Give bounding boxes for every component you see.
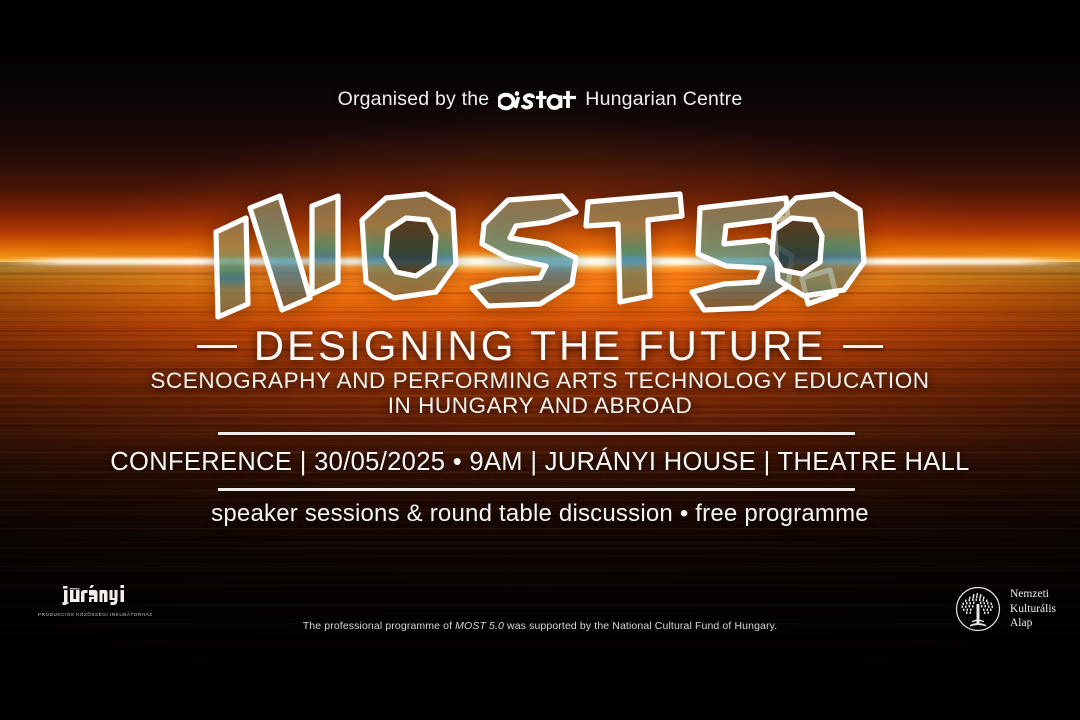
nka-text-line-3: Alap bbox=[1010, 616, 1056, 631]
wordmark-letter-M bbox=[216, 196, 338, 317]
wordmark-letter-O bbox=[362, 194, 456, 298]
juranyi-subtitle-line-1: PRODUKCIÓS KÖZÖSSÉGI bbox=[38, 612, 108, 617]
footer-support-note: The professional programme of MOST 5.0 w… bbox=[0, 620, 1080, 632]
footer-note-before: The professional programme of bbox=[303, 620, 455, 632]
letterbox-bar-top bbox=[0, 0, 1080, 55]
subtitle-line-2: IN HUNGARY AND ABROAD bbox=[0, 393, 1080, 418]
wordmark-letter-S bbox=[472, 196, 576, 306]
wordmark-letters bbox=[216, 194, 864, 317]
subtitle-line-1: SCENOGRAPHY AND PERFORMING ARTS TECHNOLO… bbox=[0, 368, 1080, 393]
juranyi-wordmark-icon bbox=[62, 582, 128, 608]
letterbox-bar-bottom bbox=[0, 665, 1080, 720]
conference-details: CONFERENCE | 30/05/2025 • 9AM | JURÁNYI … bbox=[0, 448, 1080, 477]
poster-content: Organised by the Hungarian Centre bbox=[0, 0, 1080, 720]
subtitle: SCENOGRAPHY AND PERFORMING ARTS TECHNOLO… bbox=[0, 368, 1080, 418]
footer-note-title: MOST 5.0 bbox=[455, 620, 504, 632]
nka-text-line-2: Kulturális bbox=[1010, 602, 1056, 617]
nka-logo-text: Nemzeti Kulturális Alap bbox=[1010, 587, 1056, 631]
divider-rule-top bbox=[218, 432, 855, 435]
main-title-wordmark bbox=[0, 186, 1080, 321]
organiser-line: Organised by the Hungarian Centre bbox=[0, 88, 1080, 111]
juranyi-subtitle-line-2: INKUBÁTORHÁZ bbox=[110, 612, 153, 617]
tagline-text: DESIGNING THE FUTURE bbox=[254, 322, 827, 370]
organiser-prefix: Organised by the bbox=[338, 88, 490, 111]
poster: Organised by the Hungarian Centre bbox=[0, 0, 1080, 720]
wordmark-letter-0 bbox=[772, 194, 864, 296]
organiser-suffix: Hungarian Centre bbox=[585, 88, 742, 111]
tagline: DESIGNING THE FUTURE bbox=[0, 322, 1080, 370]
tree-in-circle-icon bbox=[955, 586, 1001, 632]
footer-note-after: was supported by the National Cultural F… bbox=[504, 620, 777, 632]
tagline-dash-left bbox=[197, 345, 237, 348]
divider-rule-bottom bbox=[218, 488, 855, 491]
wordmark-letter-T bbox=[586, 194, 682, 302]
juranyi-logo: PRODUKCIÓS KÖZÖSSÉGI INKUBÁTORHÁZ bbox=[38, 582, 153, 619]
nka-logo: Nemzeti Kulturális Alap bbox=[955, 586, 1056, 632]
nka-text-line-1: Nemzeti bbox=[1010, 587, 1056, 602]
oistat-logo-icon bbox=[498, 88, 576, 111]
tagline-dash-right bbox=[843, 345, 883, 348]
juranyi-logo-subtitle: PRODUKCIÓS KÖZÖSSÉGI INKUBÁTORHÁZ bbox=[38, 612, 153, 619]
strapline: speaker sessions & round table discussio… bbox=[0, 500, 1080, 528]
